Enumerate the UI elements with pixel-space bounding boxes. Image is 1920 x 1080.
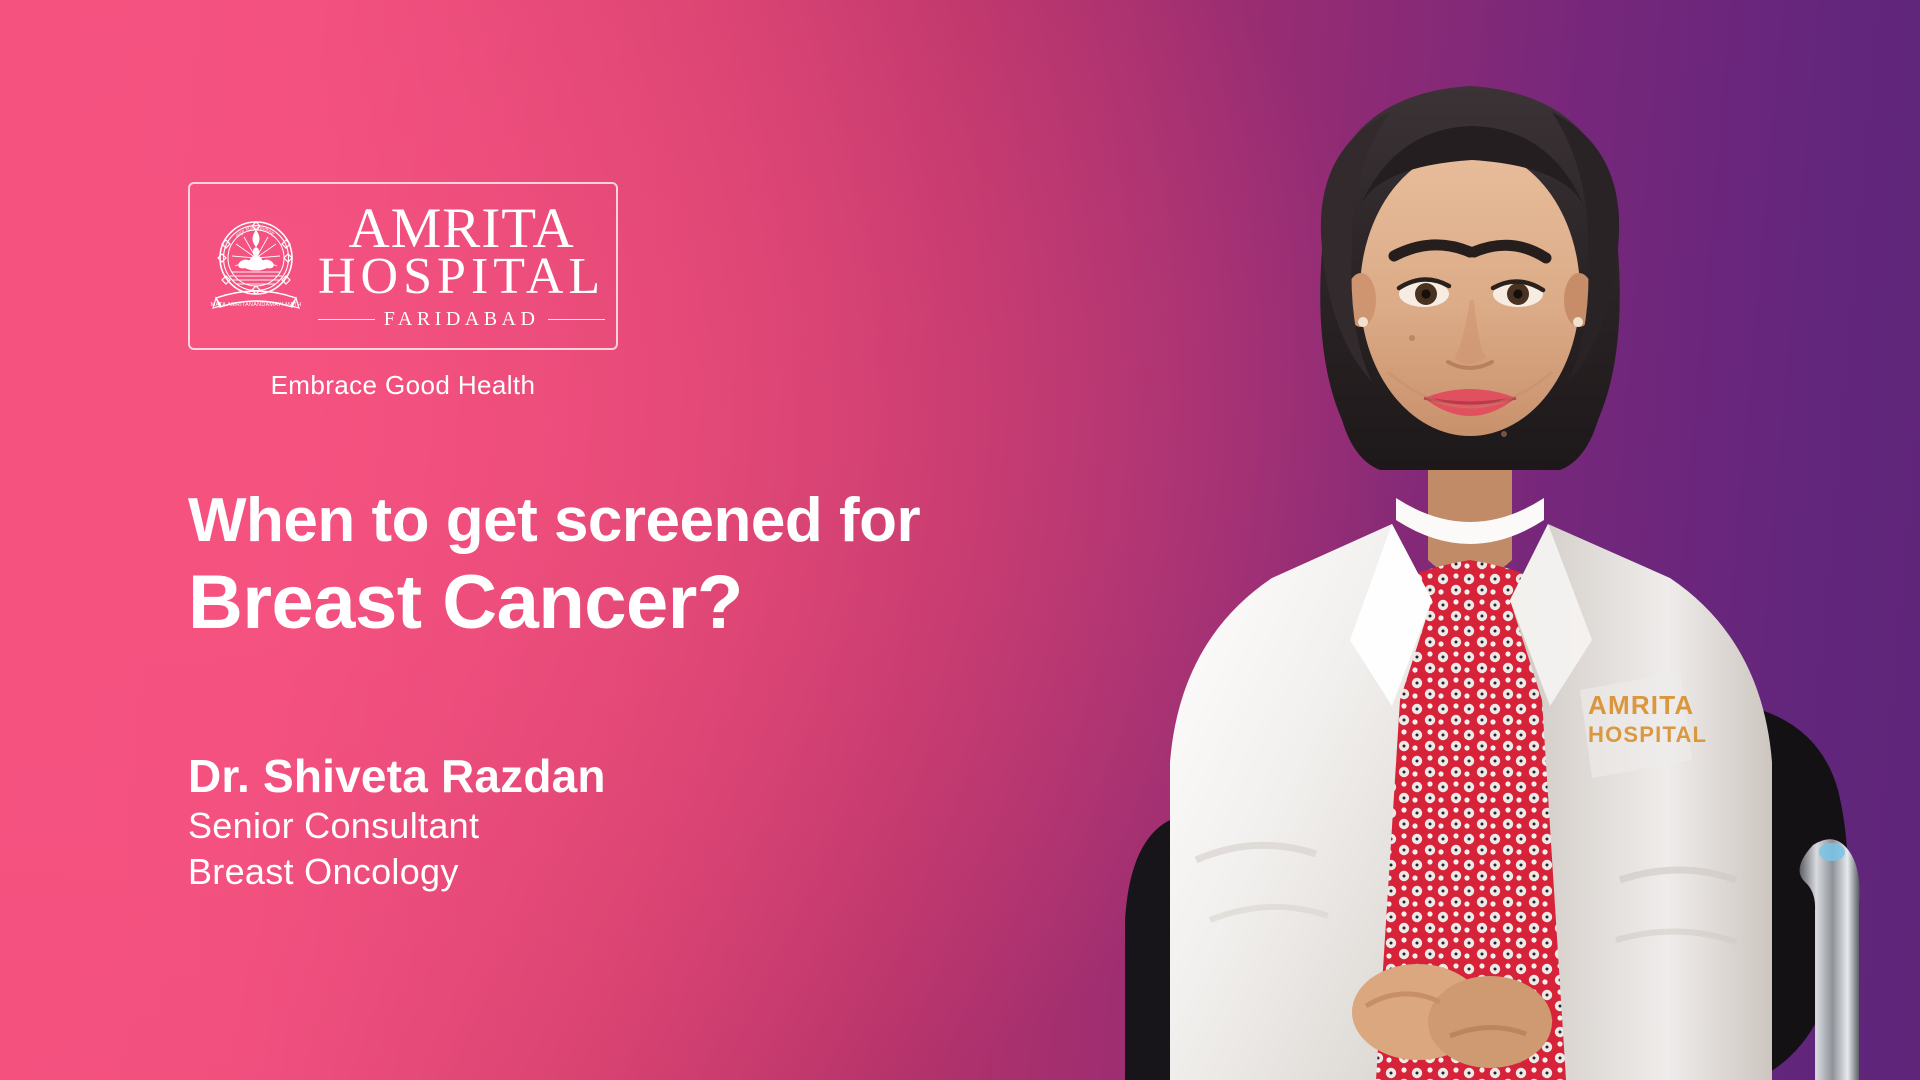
doctor-head	[1320, 86, 1620, 470]
logo-name-hospital: HOSPITAL	[318, 251, 605, 303]
promo-banner: AMRITA HOSPITAL	[0, 0, 1920, 1080]
doctor-illustration-svg: AMRITA HOSPITAL	[1020, 0, 1920, 1080]
amrita-crest-seal-icon: MATA AMRITANANDAMAYI MATH अमृत विश्वविद्…	[208, 208, 304, 326]
crest-banner-text: MATA AMRITANANDAMAYI MATH	[211, 302, 302, 308]
logo-rule-left	[318, 319, 375, 320]
logo-box: MATA AMRITANANDAMAYI MATH अमृत विश्वविद्…	[188, 182, 618, 350]
doctor-portrait-photo: AMRITA HOSPITAL	[1020, 0, 1920, 1080]
coat-badge-amrita: AMRITA	[1588, 690, 1694, 720]
coat-badge-hospital: HOSPITAL	[1588, 722, 1707, 747]
speaker-role-line-1: Senior Consultant	[188, 803, 888, 849]
speaker-name: Dr. Shiveta Razdan	[188, 750, 888, 803]
brand-tagline: Embrace Good Health	[188, 370, 618, 401]
logo-wordmark: AMRITA HOSPITAL FARIDABAD	[318, 203, 605, 331]
speaker-credit-block: Dr. Shiveta Razdan Senior Consultant Bre…	[188, 750, 888, 895]
headline-block: When to get screened for Breast Cancer?	[188, 488, 1068, 645]
logo-rule-right	[548, 319, 605, 320]
logo-location-row: FARIDABAD	[318, 308, 605, 331]
brand-logo-block: MATA AMRITANANDAMAYI MATH अमृत विश्वविद्…	[188, 182, 618, 401]
headline-line-1: When to get screened for	[188, 488, 1068, 555]
headline-line-2: Breast Cancer?	[188, 561, 1068, 645]
logo-location: FARIDABAD	[384, 308, 540, 331]
speaker-role-line-2: Breast Oncology	[188, 849, 888, 895]
